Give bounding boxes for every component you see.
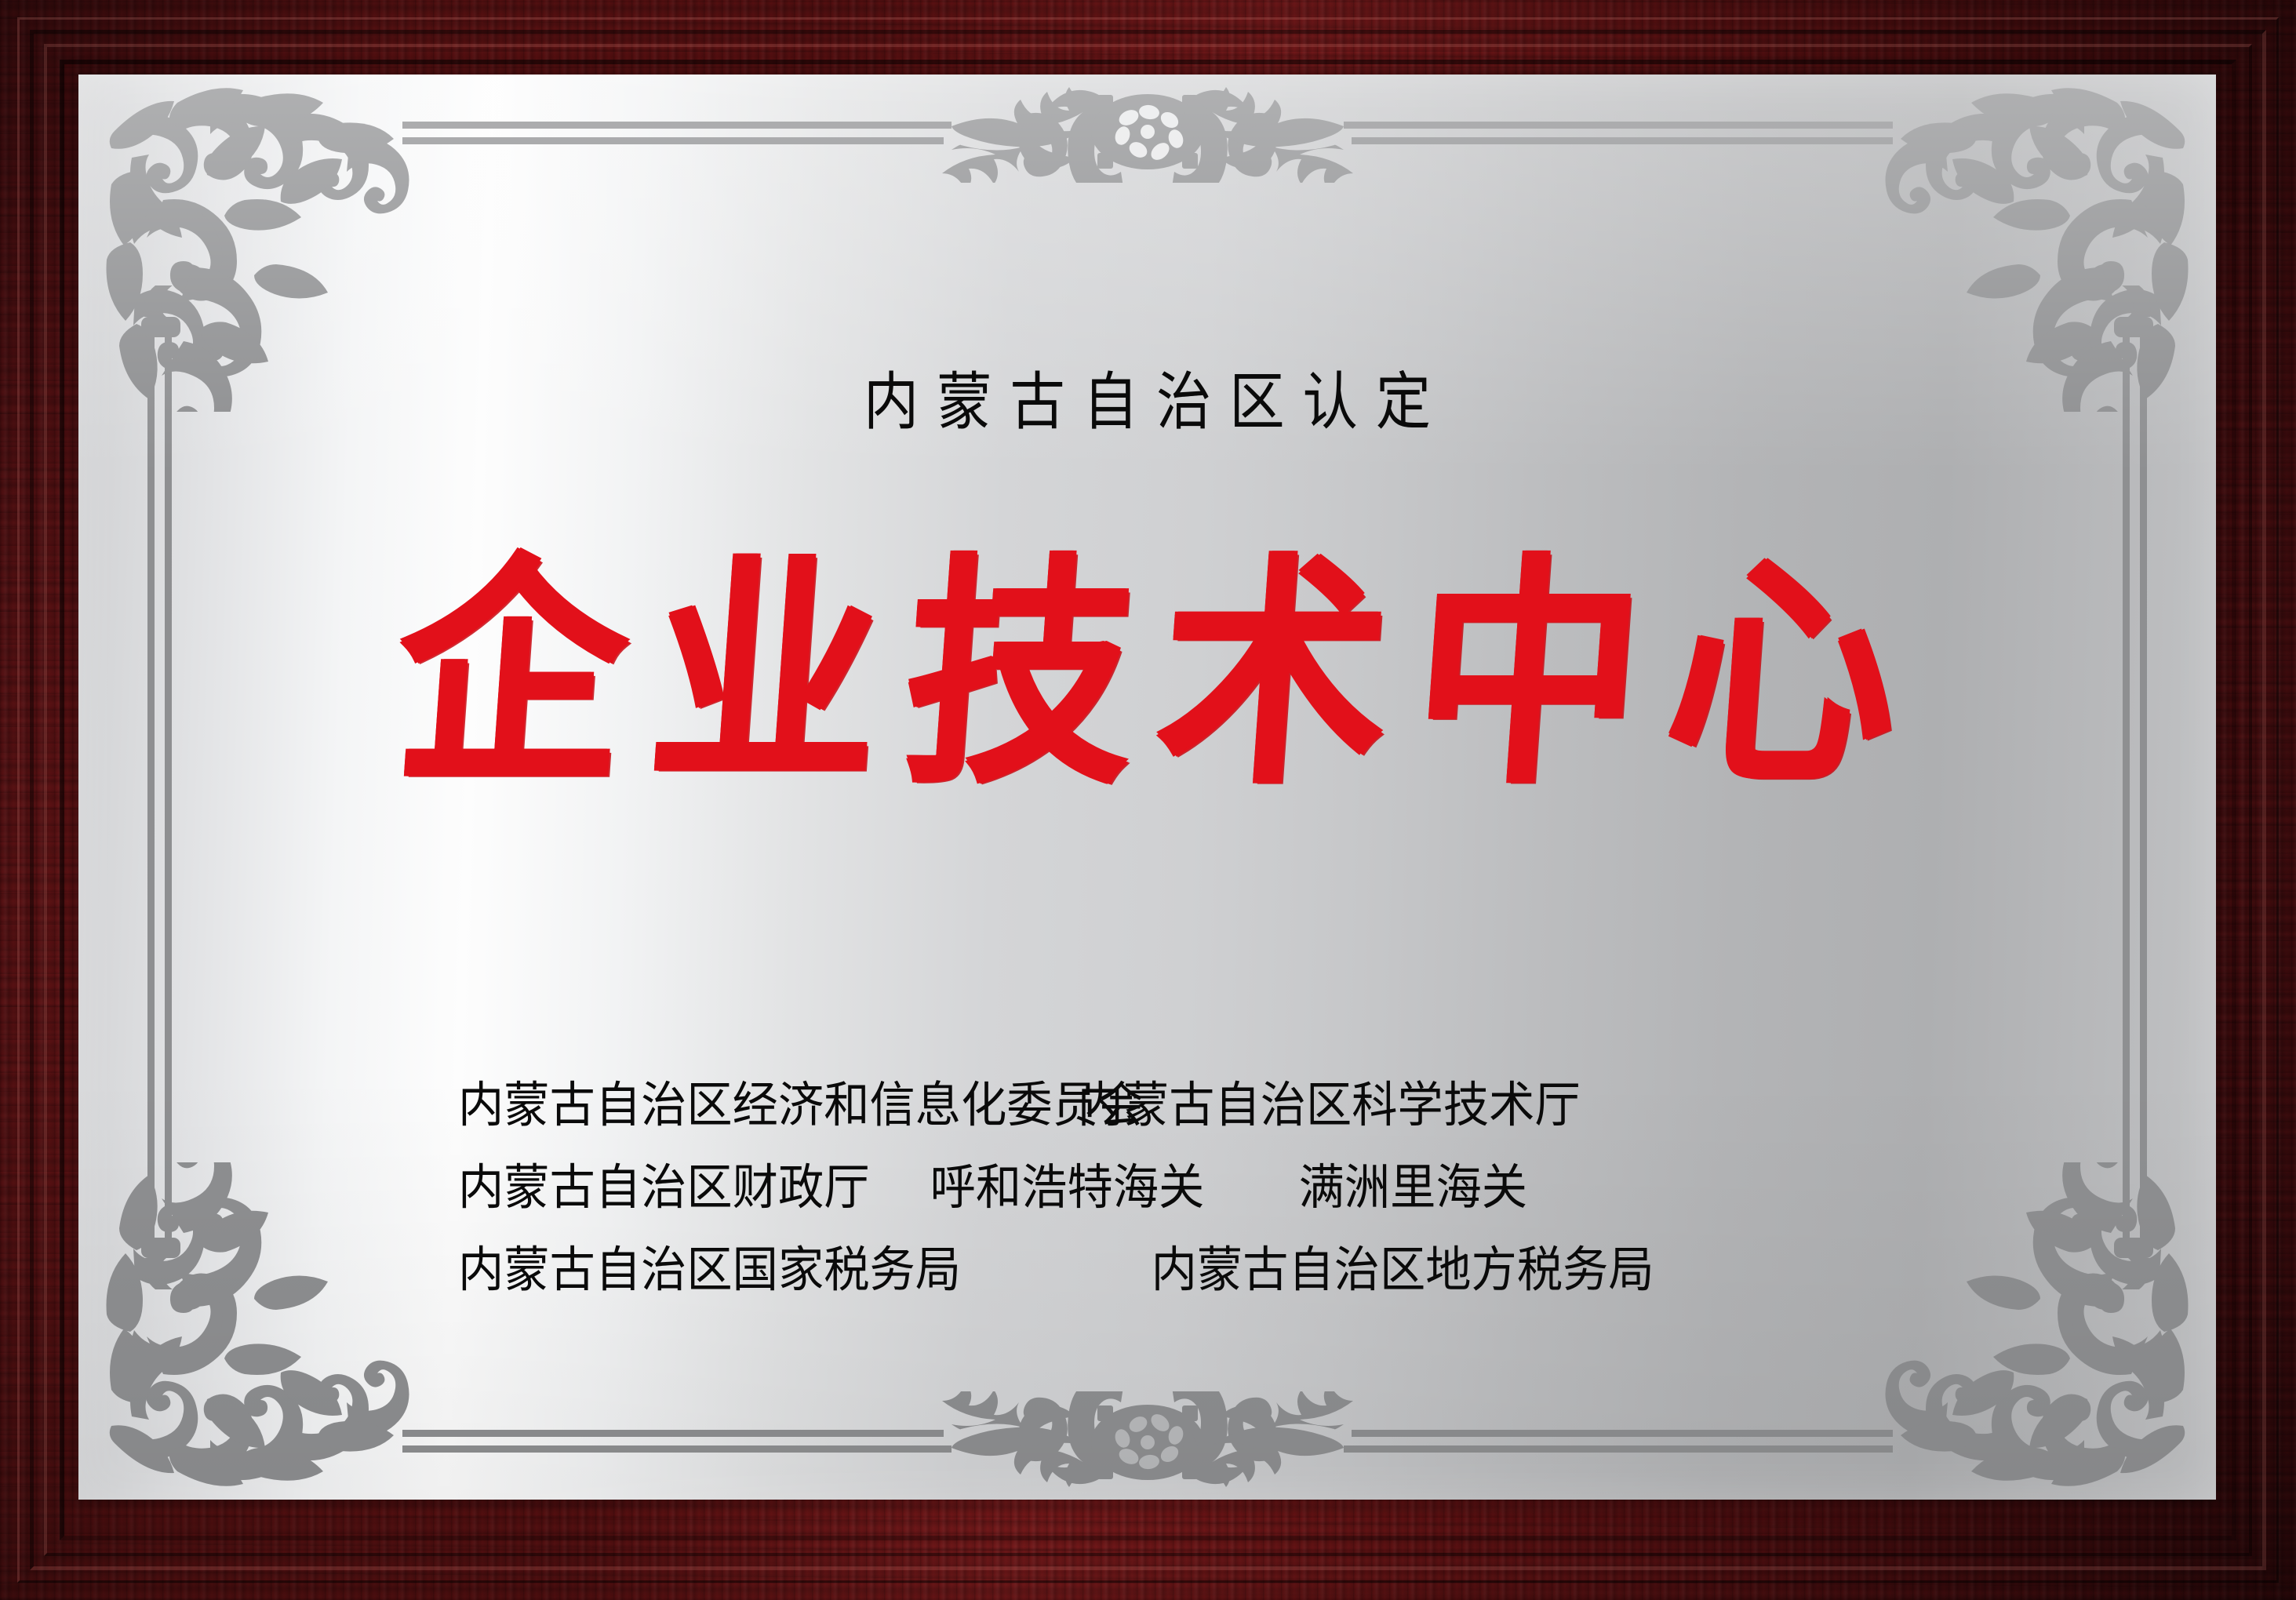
organization-row: 内蒙古自治区国家税务局内蒙古自治区地方税务局: [458, 1229, 1785, 1311]
award-plaque: 内蒙古自治区认定 企业技术中心 内蒙古自治区经济和信息化委员会内蒙古自治区科学技…: [0, 0, 2296, 1600]
corner-ornament-bottom-left: [91, 1162, 420, 1492]
organization-name: 内蒙古自治区财政厅: [458, 1147, 930, 1229]
organization-row: 内蒙古自治区经济和信息化委员会内蒙古自治区科学技术厅: [458, 1064, 1785, 1147]
award-title: 企业技术中心: [78, 554, 2216, 795]
center-medallion-bottom: [402, 1391, 1893, 1493]
center-medallion-top: [402, 81, 1893, 183]
silver-plate: 内蒙古自治区认定 企业技术中心 内蒙古自治区经济和信息化委员会内蒙古自治区科学技…: [78, 75, 2216, 1500]
corner-ornament-top-right: [1874, 82, 2203, 412]
organization-name: 呼和浩特海关: [930, 1147, 1299, 1229]
issuing-organizations: 内蒙古自治区经济和信息化委员会内蒙古自治区科学技术厅 内蒙古自治区财政厅呼和浩特…: [458, 1064, 1785, 1311]
organization-name: 内蒙古自治区国家税务局: [458, 1229, 1152, 1311]
corner-ornament-bottom-right: [1874, 1162, 2203, 1492]
corner-ornament-top-left: [91, 82, 420, 412]
organization-name: 内蒙古自治区经济和信息化委员会: [458, 1064, 1078, 1147]
certifying-authority-header: 内蒙古自治区认定: [207, 371, 2088, 434]
organization-row: 内蒙古自治区财政厅呼和浩特海关满洲里海关: [458, 1147, 1785, 1229]
